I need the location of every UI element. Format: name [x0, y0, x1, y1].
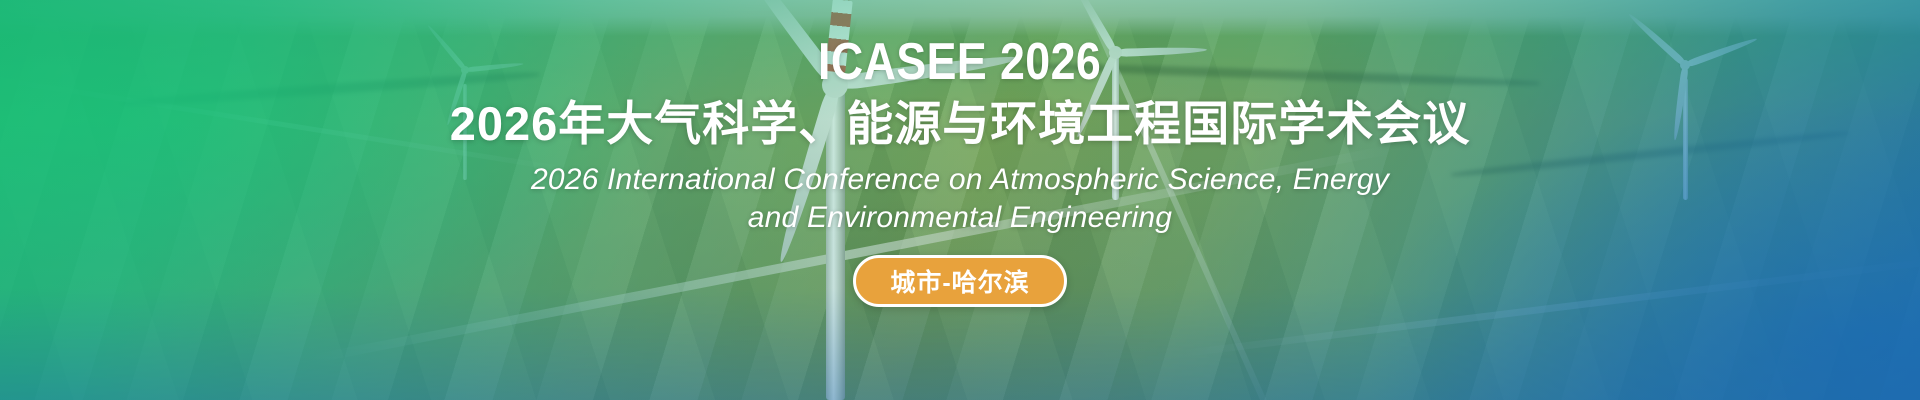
conference-acronym: ICASEE 2026	[818, 36, 1101, 88]
conference-title-english: 2026 International Conference on Atmosph…	[531, 161, 1389, 238]
conference-banner: ICASEE 2026 2026年大气科学、能源与环境工程国际学术会议 2026…	[0, 0, 1920, 400]
city-badge-container: 城市-哈尔滨	[853, 255, 1067, 307]
conference-title-english-line2: and Environmental Engineering	[531, 199, 1389, 237]
conference-title-chinese: 2026年大气科学、能源与环境工程国际学术会议	[450, 98, 1471, 151]
conference-title-english-line1: 2026 International Conference on Atmosph…	[531, 161, 1389, 199]
city-badge[interactable]: 城市-哈尔滨	[853, 255, 1067, 307]
banner-content: ICASEE 2026 2026年大气科学、能源与环境工程国际学术会议 2026…	[0, 0, 1920, 400]
